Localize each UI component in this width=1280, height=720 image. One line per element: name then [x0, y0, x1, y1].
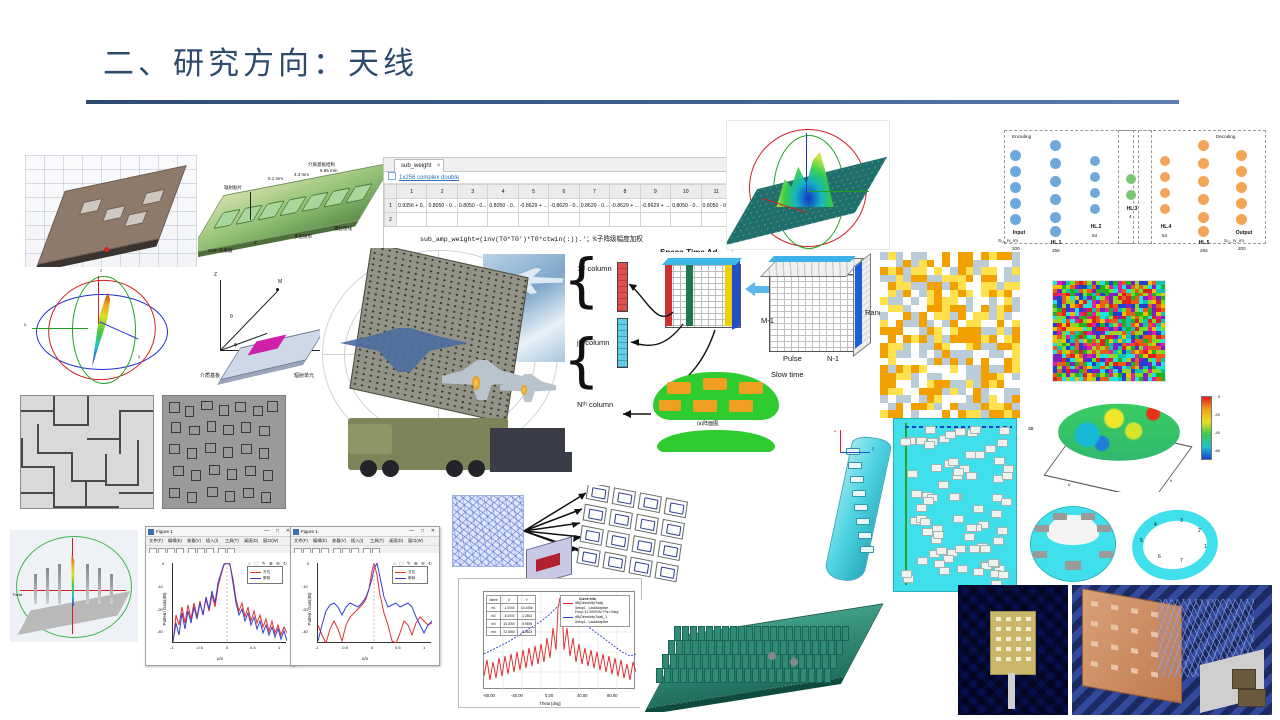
titlebar[interactable]: Figure 1 — □ ✕	[146, 527, 294, 537]
surface-xlabel: u	[1068, 482, 1071, 487]
pixmap-cell	[950, 395, 958, 403]
pixmap-cell	[989, 365, 997, 373]
cell[interactable]	[397, 213, 427, 227]
menu-edit[interactable]: 编辑(E)	[168, 537, 182, 545]
pixmap-cell	[981, 282, 989, 290]
hfss-marker-table: NameXY m1-1.000014.4456 m2-6.0000-1.2861…	[486, 595, 536, 636]
ytick: 0	[162, 561, 164, 566]
conformal-array-face-b	[657, 430, 775, 452]
nn-node	[1090, 156, 1100, 166]
pixmap-cell	[934, 410, 942, 418]
pixmap-cell	[934, 365, 942, 373]
pcb-fin	[768, 668, 775, 683]
pcb-fin	[786, 626, 793, 641]
col-header[interactable]: 9	[640, 185, 670, 199]
colormap-cell	[1161, 377, 1166, 381]
col-header[interactable]: 5	[518, 185, 548, 199]
dim-665mm: 6.65 mm	[320, 168, 338, 173]
pixmap-cell	[989, 410, 997, 418]
menu-view[interactable]: 查看(V)	[187, 537, 201, 545]
conformal-element	[729, 400, 753, 412]
pixmap-cell	[1012, 267, 1020, 275]
pixmap-cell	[911, 343, 919, 351]
menu-desktop[interactable]: 桌面(D)	[244, 537, 258, 545]
xtick: 1	[423, 645, 425, 650]
pixmap-cell	[880, 350, 888, 358]
nn-node	[1050, 158, 1061, 169]
figure-polar-grating-lobes: Theta	[10, 530, 138, 642]
minimize-button[interactable]: —	[264, 528, 269, 535]
pixmap-cell	[903, 410, 911, 418]
menu-tools[interactable]: 工具(T)	[225, 537, 239, 545]
strip-element	[850, 476, 864, 483]
sparse-array-element	[974, 451, 985, 459]
pixmap-cell	[1004, 290, 1012, 298]
titlebar[interactable]: Figure 1 — □ ✕	[291, 527, 439, 537]
sparse-array-element	[923, 497, 934, 505]
pcb-fin	[784, 668, 791, 683]
layer-sub-input: S₁₁_rv_im	[998, 238, 1018, 243]
pixmap-cell	[903, 267, 911, 275]
pixmap-cell	[989, 350, 997, 358]
cell-patch	[669, 502, 684, 514]
strip-element	[858, 532, 872, 539]
maze-segment	[21, 466, 55, 468]
cell[interactable]	[427, 213, 457, 227]
hfss-legend: Curve Info dB(DirectivityTotal) Setup1 :…	[560, 595, 630, 627]
pixmap-cell	[966, 365, 974, 373]
pixmap-cell	[1004, 388, 1012, 396]
pcb-fin	[670, 654, 677, 669]
fractal-cell	[169, 402, 180, 413]
pixmap-cell	[950, 305, 958, 313]
pixmap-cell	[942, 380, 950, 388]
pixmap-cell	[880, 290, 888, 298]
axis-label-z: Z	[214, 272, 217, 278]
z-axis-arrow	[98, 276, 99, 324]
leader-line	[250, 192, 251, 220]
maze-segment	[53, 424, 89, 426]
maze-segment	[53, 396, 55, 424]
col-header[interactable]: 3	[457, 185, 487, 199]
hfss-xtick: 80.00	[607, 693, 617, 698]
pixmap-cell	[1012, 395, 1020, 403]
unit-cell	[635, 514, 659, 535]
pixmap-cell	[919, 252, 927, 260]
cell[interactable]: -0.8629 + ...	[518, 199, 548, 213]
pixmap-cell	[919, 290, 927, 298]
stap-label-jth-column: jᵗʰ column	[577, 338, 609, 347]
minimize-button[interactable]: —	[409, 528, 414, 535]
truck-cab	[348, 424, 392, 454]
axis-label-z: z	[100, 268, 102, 273]
pixmap-cell	[903, 373, 911, 381]
matlab-data-grid[interactable]: 1 2 3 4 5 6 7 8 9 10 11 1 0.9356 + 0... …	[384, 184, 732, 227]
sparse-array-element	[907, 470, 918, 478]
pixmap-cell	[966, 350, 974, 358]
label-substrate: 介质基板	[200, 372, 220, 379]
ring-number: 3	[1180, 518, 1183, 524]
truck-wheel	[468, 460, 485, 477]
table-row: m315.0000-9.9696	[487, 620, 536, 628]
unit-cell	[638, 492, 662, 513]
cell[interactable]	[549, 213, 579, 227]
menu-view[interactable]: 查看(V)	[332, 537, 346, 545]
cell[interactable]	[579, 213, 609, 227]
pcb-fin	[708, 640, 715, 655]
pixmap-cell	[896, 327, 904, 335]
pixmap-cell	[911, 350, 919, 358]
cell[interactable]: -0.8629 + ...	[610, 199, 640, 213]
pixmap-cell	[934, 373, 942, 381]
pixmap-cell	[903, 365, 911, 373]
maze-segment	[21, 492, 55, 494]
sparse-array-element	[924, 441, 935, 449]
layer-label-hl5: HL.5	[1190, 240, 1218, 246]
unit-cell	[657, 540, 681, 561]
pixmap-cell	[973, 410, 981, 418]
pixmap-cell	[896, 343, 904, 351]
pixmap-cell	[989, 395, 997, 403]
pixmap-cell	[934, 343, 942, 351]
conformal-element	[659, 400, 681, 411]
column-vector-cyan	[617, 318, 628, 368]
pixmap-cell	[942, 410, 950, 418]
array-patch	[345, 183, 373, 203]
pixmap-cell	[911, 290, 919, 298]
pixmap-cell	[1004, 252, 1012, 260]
pixmap-cell	[981, 305, 989, 313]
pixmap-cell	[981, 410, 989, 418]
cube-label-m1: M-1	[761, 316, 774, 325]
pixmap-cell	[1004, 403, 1012, 411]
pcb-fin	[804, 640, 811, 655]
menu-file[interactable]: 文件(F)	[294, 537, 308, 545]
strip-element	[848, 462, 862, 469]
menu-window[interactable]: 窗口(W)	[263, 537, 278, 545]
nn-node	[1050, 212, 1061, 223]
col-header[interactable]: 8	[610, 185, 640, 199]
pixmap-cell	[880, 312, 888, 320]
figure-pattern-over-array	[726, 120, 890, 250]
pcb-fin	[696, 668, 703, 683]
pixmap-cell	[934, 327, 942, 335]
pixmap-cell	[903, 343, 911, 351]
col-header[interactable]: 1	[397, 185, 427, 199]
pixmap-cell	[989, 403, 997, 411]
col-header[interactable]: 2	[427, 185, 457, 199]
menu-window[interactable]: 窗口(W)	[408, 537, 423, 545]
menu-edit[interactable]: 编辑(E)	[313, 537, 327, 545]
pixmap-cell	[1012, 358, 1020, 366]
fractal-cell	[259, 448, 269, 459]
pixmap-cell	[950, 312, 958, 320]
sparse-array-element	[997, 527, 1008, 535]
pixmap-cell	[966, 275, 974, 283]
pixmap-cell	[911, 388, 919, 396]
pixmap-cell	[888, 365, 896, 373]
array-patch	[213, 209, 241, 229]
pixmap-cell	[911, 327, 919, 335]
ring-number: 1	[1204, 544, 1207, 550]
unit-cell	[579, 525, 603, 546]
pixmap-cell	[966, 403, 974, 411]
cell[interactable]: -0.8629 - 0...	[549, 199, 579, 213]
pixmap-cell	[1012, 282, 1020, 290]
ring-number: 6	[1158, 554, 1161, 560]
cad-origin-marker	[104, 247, 109, 252]
pixmap-cell	[888, 327, 896, 335]
cell[interactable]	[671, 213, 701, 227]
pixmap-cell	[927, 290, 935, 298]
pixmap-cell	[896, 350, 904, 358]
pixmap-cell	[919, 260, 927, 268]
pixmap-cell	[896, 305, 904, 313]
pcb-fin	[820, 640, 827, 655]
sparse-array-element	[988, 559, 999, 567]
pixmap-cell	[958, 252, 966, 260]
pixmap-cell	[927, 305, 935, 313]
cell-patch	[634, 561, 649, 573]
pixmap-cell	[888, 380, 896, 388]
pcb-fin	[788, 640, 795, 655]
pixmap-cell	[958, 403, 966, 411]
figure-metasurface-fractal	[162, 395, 286, 509]
cell[interactable]: -0.8629 + ...	[640, 199, 670, 213]
figure-radar-collage	[320, 248, 572, 492]
conformal-array-face-a	[653, 372, 779, 420]
pixmap-cell	[888, 312, 896, 320]
pixmap-cell	[966, 380, 974, 388]
caption-conformal-a: (a)阵面图	[697, 420, 718, 427]
pixmap-cell	[997, 252, 1005, 260]
figure-conformal-rings: 1 2 3 4 5 6 7	[1022, 492, 1222, 598]
menu-tools[interactable]: 工具(T)	[370, 537, 384, 545]
pixmap-cell	[911, 267, 919, 275]
pixmap-cell	[934, 260, 942, 268]
cell[interactable]	[457, 213, 487, 227]
label-coupling-feed: 耦合馈线	[334, 226, 352, 232]
fractal-cell	[253, 406, 263, 416]
cell: 72.0000	[500, 628, 518, 636]
pcb-fin	[816, 668, 823, 683]
matlab-icon	[148, 529, 154, 535]
close-icon[interactable]: ×	[437, 160, 441, 172]
nn-node	[1160, 204, 1170, 214]
xtick: -0.5	[341, 645, 348, 650]
menu-desktop[interactable]: 桌面(D)	[389, 537, 403, 545]
pixmap-cell	[888, 282, 896, 290]
cell[interactable]	[518, 213, 548, 227]
cube-range-edge	[855, 261, 862, 348]
pcb-fin	[814, 654, 821, 669]
figure-metasurface-maze	[20, 395, 154, 509]
pixmap-cell	[888, 305, 896, 313]
pixmap-cell	[981, 260, 989, 268]
variable-type-link[interactable]: 1x256 complex double	[399, 175, 459, 181]
layer-label-input: Input	[1002, 230, 1036, 236]
sparse-array-element	[985, 445, 996, 453]
sparse-array-element	[920, 518, 931, 526]
antenna-under-test	[990, 611, 1036, 675]
pixmap-cell	[903, 305, 911, 313]
unit-cell	[661, 519, 685, 540]
cell-patch	[666, 524, 681, 536]
maximize-button[interactable]: □	[276, 528, 279, 535]
sparse-array-element	[973, 568, 984, 576]
unit-cell	[586, 485, 610, 503]
pixmap-cell	[919, 410, 927, 418]
pixmap-cell	[1004, 297, 1012, 305]
sparse-array-element	[957, 565, 968, 573]
hfss-xtick: -80.00	[483, 693, 495, 698]
pixmap-cell	[966, 312, 974, 320]
nn-node	[1160, 188, 1170, 198]
pixmap-cell	[1004, 275, 1012, 283]
cell[interactable]: 0.8050 - 0...	[488, 199, 518, 213]
nn-node	[1050, 140, 1061, 151]
pcb-fin	[746, 626, 753, 641]
pcb-fin	[738, 626, 745, 641]
x-axis-arrow	[32, 328, 88, 329]
antenna-pedestal	[1008, 673, 1015, 709]
fractal-cell	[267, 401, 278, 412]
pixmap-cell	[888, 275, 896, 283]
fractal-cell	[169, 444, 180, 454]
pcb-fin	[798, 654, 805, 669]
pixmap-cell	[880, 320, 888, 328]
pixmap-cell	[934, 335, 942, 343]
nn-node	[1160, 156, 1170, 166]
array-patch	[257, 200, 285, 220]
pixmap-cell	[1012, 312, 1020, 320]
pixmap-cell	[973, 312, 981, 320]
pixmap-cell	[919, 350, 927, 358]
pixmap-cell	[919, 395, 927, 403]
cell[interactable]	[488, 213, 518, 227]
pixmap-cell	[896, 388, 904, 396]
pcb-fin	[724, 640, 731, 655]
pcb-fin	[678, 654, 685, 669]
pixmap-cell	[1004, 343, 1012, 351]
figure-curved-conformal-array: z y	[820, 430, 900, 590]
hfss-xtick: -40.00	[511, 693, 523, 698]
pixmap-cell	[903, 327, 911, 335]
xtick: -0.5	[196, 645, 203, 650]
cell[interactable]	[610, 213, 640, 227]
axis-label-z: z	[834, 430, 837, 434]
pixmap-cell	[880, 388, 888, 396]
col-header[interactable]: 6	[549, 185, 579, 199]
pixmap-cell	[950, 350, 958, 358]
pixmap-cell	[1012, 388, 1020, 396]
cell[interactable]: 0.8629 - 0...	[579, 199, 609, 213]
menubar[interactable]: 文件(F) 编辑(E) 查看(V) 插入(I) 工具(T) 桌面(D) 窗口(W…	[146, 537, 294, 546]
col-header[interactable]: 4	[488, 185, 518, 199]
figure-matlab-variable-editor[interactable]: sub_weight × 1x256 complex double 1 2 3 …	[383, 157, 733, 257]
pixmap-cell	[934, 267, 942, 275]
conformal-element	[667, 382, 691, 394]
matlab-figure-window-2[interactable]: Figure 1 — □ ✕ 文件(F) 编辑(E) 查看(V) 插入(I) 工…	[290, 526, 440, 666]
maximize-button[interactable]: □	[421, 528, 424, 535]
pixmap-cell	[927, 282, 935, 290]
pixmap-cell	[1012, 410, 1020, 418]
menu-insert[interactable]: 插入(I)	[206, 537, 218, 545]
menu-file[interactable]: 文件(F)	[149, 537, 163, 545]
tab-sub-weight[interactable]: sub_weight ×	[394, 159, 444, 172]
pixmap-cell	[966, 305, 974, 313]
label-M: M	[278, 279, 282, 285]
pixmap-cell	[1012, 297, 1020, 305]
pixmap-cell	[919, 343, 927, 351]
sparse-array-element	[966, 472, 977, 480]
cell[interactable]: 0.9356 + 0...	[397, 199, 427, 213]
cell: Name	[487, 596, 501, 604]
pcb-fin	[780, 640, 787, 655]
pixmap-cell	[1012, 320, 1020, 328]
pixmap-cell	[888, 297, 896, 305]
fractal-cell	[185, 406, 194, 417]
pixmap-cell	[958, 365, 966, 373]
unit-cell	[631, 535, 655, 556]
col-header[interactable]: 10	[671, 185, 701, 199]
radar-generator-unit	[490, 428, 572, 472]
pcb-fin	[732, 640, 739, 655]
pixmap-cell	[1012, 380, 1020, 388]
pixmap-cell	[903, 297, 911, 305]
pcb-fin	[824, 668, 831, 683]
matlab-tab-bar[interactable]: sub_weight ×	[384, 158, 732, 172]
pixmap-cell	[942, 275, 950, 283]
menu-insert[interactable]: 插入(I)	[351, 537, 363, 545]
fractal-cell	[227, 469, 237, 480]
pixmap-cell	[989, 297, 997, 305]
pixmap-cell	[896, 335, 904, 343]
cell[interactable]: 0.8050 - 0...	[671, 199, 701, 213]
matlab-figure-window-1[interactable]: Figure 1 — □ ✕ 文件(F) 编辑(E) 查看(V) 插入(I) 工…	[145, 526, 295, 666]
pixmap-cell	[903, 350, 911, 358]
pixmap-cell	[896, 275, 904, 283]
pixmap-cell	[981, 320, 989, 328]
col-header[interactable]: 7	[579, 185, 609, 199]
sparse-array-element	[998, 571, 1009, 579]
sparse-array-element	[993, 537, 1004, 545]
legend-item: 方位	[408, 570, 415, 575]
sparse-array-element	[945, 431, 956, 439]
pixmap-cell	[903, 312, 911, 320]
pixmap-cell	[919, 403, 927, 411]
cell[interactable]: 0.8050 - 0...	[457, 199, 487, 213]
pixmap-cell	[958, 410, 966, 418]
menubar[interactable]: 文件(F) 编辑(E) 查看(V) 插入(I) 工具(T) 桌面(D) 窗口(W…	[291, 537, 439, 546]
cell[interactable]	[640, 213, 670, 227]
title-divider	[86, 100, 1179, 104]
unit-cell-patch	[536, 553, 560, 572]
sparse-array-element	[922, 528, 933, 536]
close-button[interactable]: ✕	[431, 528, 435, 535]
pixmap-cell	[934, 282, 942, 290]
fractal-cell	[223, 447, 233, 458]
pixmap-cell	[973, 282, 981, 290]
cell[interactable]: 0.8050 - 0...	[427, 199, 457, 213]
array-axis-vertical	[905, 423, 907, 585]
pcb-fin	[836, 640, 843, 655]
pixmap-cell	[981, 312, 989, 320]
maze-segment	[137, 440, 139, 486]
row-header: 1	[385, 199, 397, 213]
plot-legend: 方位 俯仰	[247, 566, 283, 584]
figure-stap-diagram: { { 1ˢᵗ column jᵗʰ column Nᵗʰ column M-1…	[565, 252, 925, 452]
